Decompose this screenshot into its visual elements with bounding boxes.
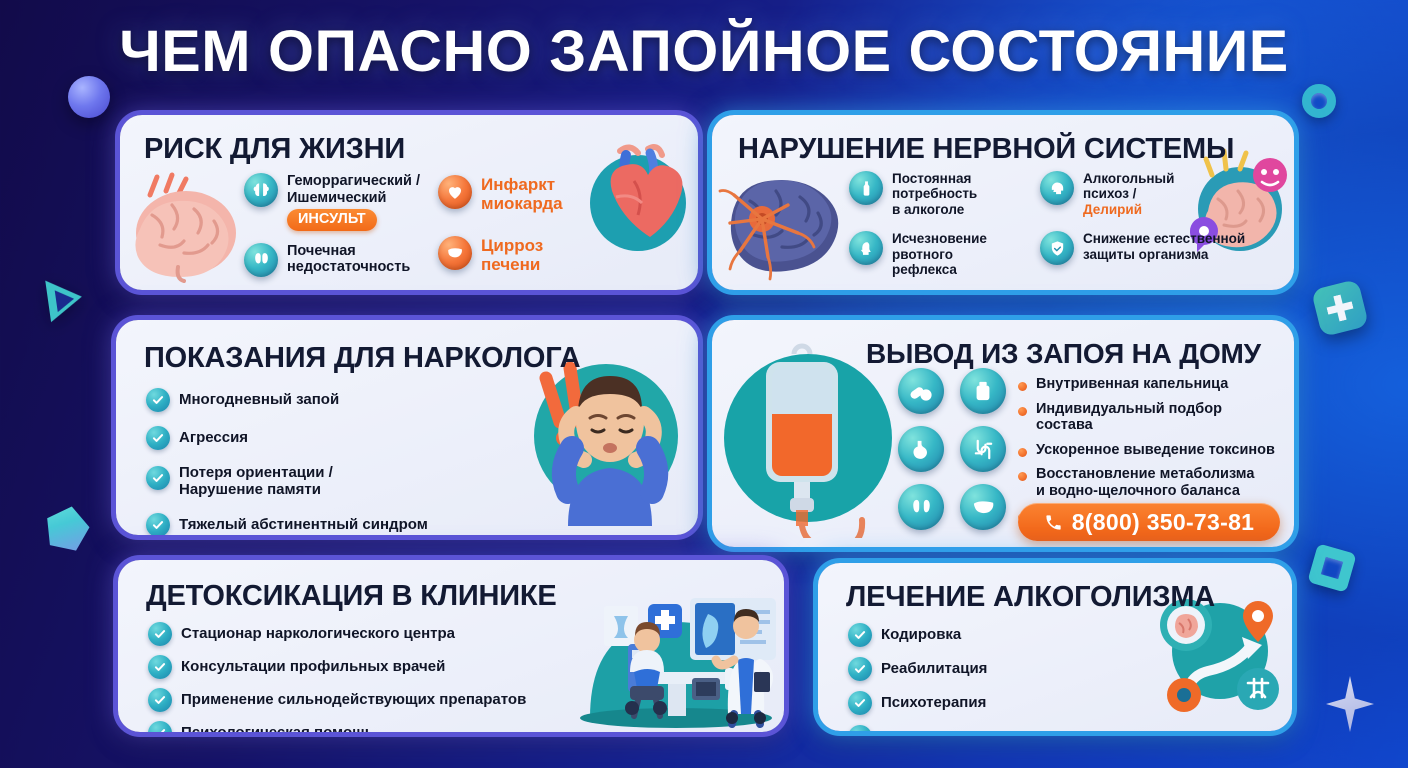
list-item-kidney-failure[interactable]: Почечная недостаточность (244, 243, 426, 277)
check-icon (848, 725, 872, 731)
bullet-dot-icon (1018, 472, 1027, 481)
list-item-text: Физиопроцедуры (881, 728, 1014, 731)
bullet-dot-icon (1018, 448, 1027, 457)
bullet-dot-icon (1018, 382, 1027, 391)
kidneys-icon (898, 484, 944, 530)
cards-board: РИСК ДЛЯ ЖИЗНИ Геморрагический / Ишемиче… (0, 0, 1408, 768)
check-icon (848, 657, 872, 681)
nervous-right-column: Алкогольный психоз / Делирий Снижение ес… (1040, 171, 1252, 265)
list-item-vomit-reflex[interactable]: Исчезновение рвотного рефлекса (849, 231, 1005, 277)
bottle-icon (849, 171, 883, 205)
list-item-text: Снижение естественной защиты организма (1083, 231, 1245, 262)
list-item-text: Психологическая помощь (181, 724, 374, 732)
nervous-left-column: Постоянная потребность в алкоголе Исчезн… (849, 171, 1005, 277)
list-item-text: Психотерапия (881, 694, 986, 711)
pills-icon (898, 368, 944, 414)
home-detox-list: Внутривенная капельница Индивидуальный п… (1018, 376, 1280, 524)
list-item[interactable]: Психотерапия (848, 691, 1098, 715)
list-item[interactable]: Индивидуальный подбор состава (1018, 401, 1280, 434)
brain-icon (244, 173, 278, 207)
stomach-icon (898, 426, 944, 472)
head-brain-icon (1040, 171, 1074, 205)
stroke-badge: ИНСУЛЬТ (287, 209, 377, 231)
list-item-text: Кодировка (881, 626, 961, 643)
liver-icon (960, 484, 1006, 530)
list-item-alcoholic-psychosis[interactable]: Алкогольный психоз / Делирий (1040, 171, 1252, 217)
list-item[interactable]: Психологическая помощь (148, 721, 618, 732)
card-alcoholism-treatment: ЛЕЧЕНИЕ АЛКОГОЛИЗМА Кодировка Реабилитац… (818, 563, 1292, 731)
list-item[interactable]: Физиопроцедуры (848, 725, 1098, 731)
list-item[interactable]: Применение сильнодействующих препаратов (148, 688, 618, 712)
check-icon (848, 691, 872, 715)
card-nervous-system-heading: НАРУШЕНИЕ НЕРВНОЙ СИСТЕМЫ (738, 133, 1234, 166)
list-item-text: Внутривенная капельница (1036, 376, 1228, 393)
life-risk-left-column: Геморрагический / Ишемический ИНСУЛЬТ По… (244, 173, 426, 277)
list-item-text: Геморрагический / Ишемический ИНСУЛЬТ (287, 173, 420, 231)
list-item-text: Инфаркт миокарда (481, 175, 563, 214)
alcoholism-treatment-list: Кодировка Реабилитация Психотерапия Физи… (848, 623, 1098, 731)
phone-button-wrap: 8(800) 350-73-81 (1018, 503, 1280, 541)
list-item-text: Многодневный запой (179, 391, 339, 408)
intestine-icon (960, 426, 1006, 472)
list-item[interactable]: Стационар наркологического центра (148, 622, 618, 646)
shield-check-icon (1040, 231, 1074, 265)
heart-icon (438, 175, 472, 209)
list-item-text: Реабилитация (881, 660, 987, 677)
narcologist-list: Многодневный запой Агрессия Потеря ориен… (146, 388, 476, 535)
list-item-text: Тяжелый абстинентный синдром (179, 516, 428, 533)
check-icon (146, 426, 170, 450)
list-item[interactable]: Ускоренное выведение токсинов (1018, 442, 1280, 459)
list-item[interactable]: Многодневный запой (146, 388, 476, 412)
card-nervous-system: НАРУШЕНИЕ НЕРВНОЙ СИСТЕМЫ Постоянная пот… (712, 115, 1294, 290)
check-icon (148, 688, 172, 712)
list-item-text: Цирроз печени (481, 236, 543, 275)
phone-number: 8(800) 350-73-81 (1072, 509, 1255, 536)
list-item-constant-craving[interactable]: Постоянная потребность в алкоголе (849, 171, 1005, 217)
check-icon (146, 388, 170, 412)
brain-illustration (126, 167, 246, 285)
check-icon (148, 721, 172, 732)
list-item-stroke[interactable]: Геморрагический / Ишемический ИНСУЛЬТ (244, 173, 426, 231)
list-item-text: Почечная недостаточность (287, 243, 410, 276)
check-icon (148, 622, 172, 646)
home-detox-icon-grid (898, 368, 1008, 530)
card-alcoholism-treatment-heading: ЛЕЧЕНИЕ АЛКОГОЛИЗМА (846, 581, 1215, 614)
list-item-text: Консультации профильных врачей (181, 658, 445, 675)
vomit-reflex-icon (849, 231, 883, 265)
liver-icon (438, 236, 472, 270)
list-item-text: Постоянная потребность в алкоголе (892, 171, 977, 217)
list-item[interactable]: Консультации профильных врачей (148, 655, 618, 679)
neuron-brain-illustration (714, 161, 856, 283)
medicine-bottle-icon (960, 368, 1006, 414)
list-item[interactable]: Тяжелый абстинентный синдром (146, 513, 476, 535)
check-icon (146, 466, 170, 490)
card-home-detox-heading: ВЫВОД ИЗ ЗАПОЯ НА ДОМУ (866, 338, 1261, 370)
check-icon (848, 623, 872, 647)
card-narcologist-heading: ПОКАЗАНИЯ ДЛЯ НАРКОЛОГА (144, 342, 580, 375)
card-home-detox: ВЫВОД ИЗ ЗАПОЯ НА ДОМУ Внутривенная капе… (712, 320, 1294, 547)
list-item-text: Применение сильнодействующих препаратов (181, 691, 526, 708)
card-life-risk-heading: РИСК ДЛЯ ЖИЗНИ (144, 133, 405, 166)
list-item-text: Восстановление метаболизма и водно-щелоч… (1036, 466, 1254, 499)
card-narcologist: ПОКАЗАНИЯ ДЛЯ НАРКОЛОГА Многодневный зап… (116, 320, 698, 535)
list-item[interactable]: Агрессия (146, 426, 476, 450)
card-life-risk: РИСК ДЛЯ ЖИЗНИ Геморрагический / Ишемиче… (120, 115, 698, 290)
list-item-text: Потеря ориентации / Нарушение памяти (179, 464, 333, 499)
card-clinic-detox-heading: ДЕТОКСИКАЦИЯ В КЛИНИКЕ (146, 580, 557, 613)
list-item-text: Стационар наркологического центра (181, 625, 455, 642)
kidneys-icon (244, 243, 278, 277)
clinic-detox-list: Стационар наркологического центра Консул… (148, 622, 618, 732)
list-item[interactable]: Потеря ориентации / Нарушение памяти (146, 464, 476, 499)
life-risk-right-column: Инфаркт миокарда Цирроз печени (438, 175, 598, 275)
list-item-text: Индивидуальный подбор состава (1036, 401, 1280, 434)
list-item[interactable]: Реабилитация (848, 657, 1098, 681)
check-icon (148, 655, 172, 679)
check-icon (146, 513, 170, 535)
list-item[interactable]: Восстановление метаболизма и водно-щелоч… (1018, 466, 1280, 499)
list-item[interactable]: Кодировка (848, 623, 1098, 647)
list-item-liver-cirrhosis[interactable]: Цирроз печени (438, 236, 598, 275)
list-item-text: Агрессия (179, 429, 248, 446)
list-item-text: Ускоренное выведение токсинов (1036, 442, 1275, 459)
list-item-text: Исчезновение рвотного рефлекса (892, 231, 1005, 277)
list-item-myocardial-infarction[interactable]: Инфаркт миокарда (438, 175, 598, 214)
list-item-immunity-decline[interactable]: Снижение естественной защиты организма (1040, 231, 1252, 265)
phone-call-button[interactable]: 8(800) 350-73-81 (1018, 503, 1280, 541)
bullet-dot-icon (1018, 407, 1027, 416)
phone-icon (1044, 513, 1063, 532)
list-item-text: Алкогольный психоз / Делирий (1083, 171, 1174, 217)
card-clinic-detox: ДЕТОКСИКАЦИЯ В КЛИНИКЕ Стационар нарколо… (118, 560, 784, 732)
list-item[interactable]: Внутривенная капельница (1018, 376, 1280, 393)
